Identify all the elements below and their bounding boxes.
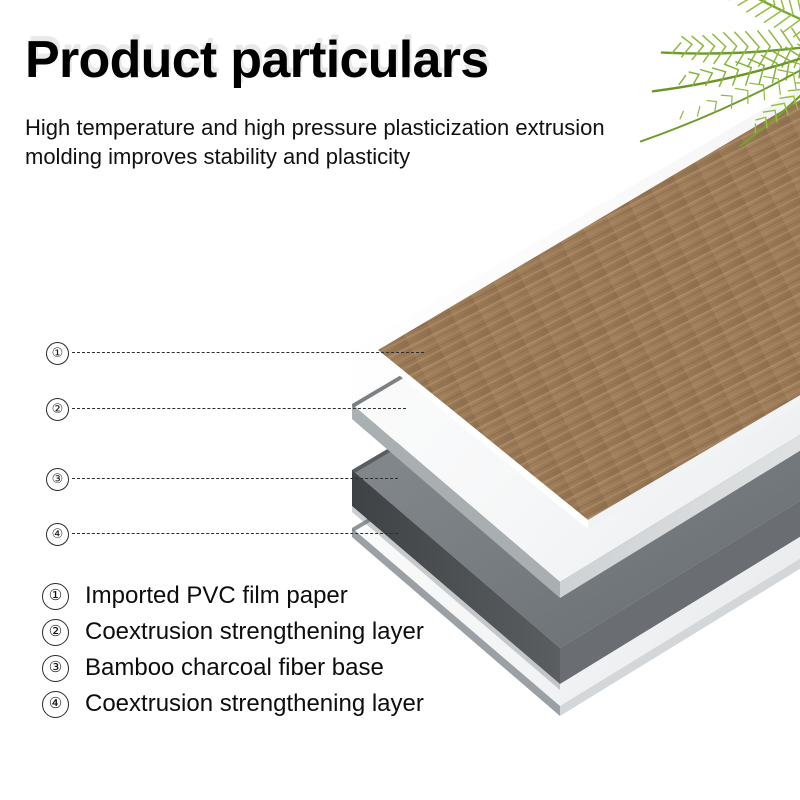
legend-label-1: Imported PVC film paper xyxy=(85,580,348,612)
legend-label-3: Bamboo charcoal fiber base xyxy=(85,652,384,684)
callout-dash-2 xyxy=(72,408,406,409)
callout-marker-4: ④ xyxy=(46,523,69,546)
legend-marker-2: ② xyxy=(42,619,69,646)
legend-label-4: Coextrusion strengthening layer xyxy=(85,688,424,720)
callout-dash-3 xyxy=(72,478,398,479)
layer-legend-list: ① Imported PVC film paper ② Coextrusion … xyxy=(42,580,512,724)
subtitle-line-1: High temperature and high pressure plast… xyxy=(25,113,685,142)
callout-dash-1 xyxy=(72,352,424,353)
page-title: Product particulars xyxy=(25,30,489,90)
list-item: ② Coextrusion strengthening layer xyxy=(42,616,512,652)
subtitle-line-2: molding improves stability and plasticit… xyxy=(25,142,685,171)
list-item: ① Imported PVC film paper xyxy=(42,580,512,616)
list-item: ③ Bamboo charcoal fiber base xyxy=(42,652,512,688)
page-subtitle: High temperature and high pressure plast… xyxy=(25,113,685,171)
legend-label-2: Coextrusion strengthening layer xyxy=(85,616,424,648)
callout-marker-1: ① xyxy=(46,342,69,365)
callout-marker-3: ③ xyxy=(46,468,69,491)
list-item: ④ Coextrusion strengthening layer xyxy=(42,688,512,724)
legend-marker-1: ① xyxy=(42,583,69,610)
callout-marker-2: ② xyxy=(46,398,69,421)
legend-marker-4: ④ xyxy=(42,691,69,718)
callout-dash-4 xyxy=(72,533,398,534)
product-particulars-infographic: Product particulars Product particulars … xyxy=(0,0,800,800)
legend-marker-3: ③ xyxy=(42,655,69,682)
